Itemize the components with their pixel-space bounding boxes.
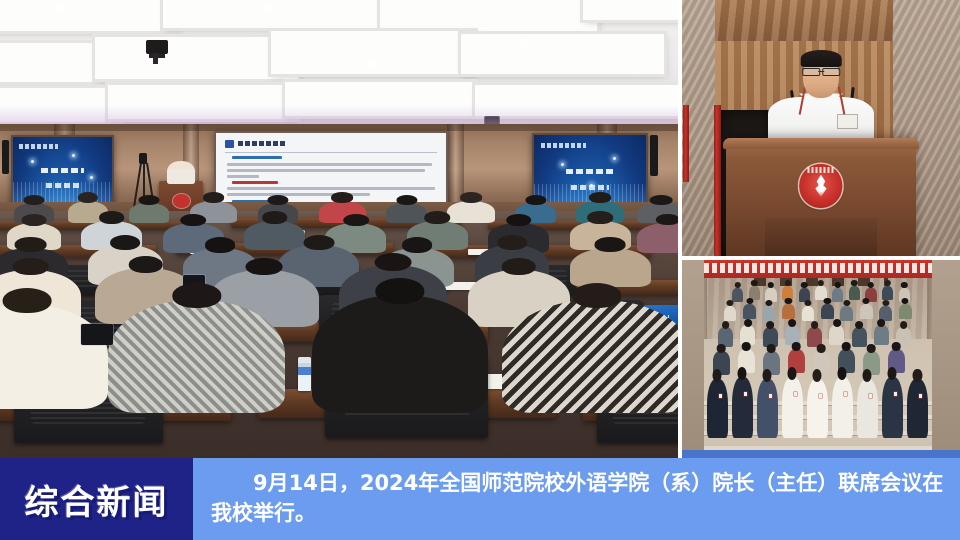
speaker-hair bbox=[801, 50, 842, 67]
audience-area bbox=[0, 211, 678, 458]
podium-base bbox=[765, 218, 876, 256]
university-emblem-icon bbox=[799, 164, 842, 207]
category-tag-label: 综合新闻 bbox=[25, 475, 169, 524]
category-tag: 综合新闻 bbox=[0, 458, 193, 540]
stage-presenter bbox=[167, 161, 195, 184]
conference-hall-audience-photo bbox=[0, 0, 678, 458]
caption-text: 9月14日，2024年全国师范院校外语学院（系）院长（主任）联席会议在我校举行。 bbox=[211, 469, 944, 529]
hall-ceiling bbox=[0, 0, 678, 142]
speaker-badge bbox=[838, 115, 857, 128]
keynote-speaker-photo bbox=[682, 0, 960, 256]
attendee-phone-front bbox=[81, 324, 112, 345]
group-photo bbox=[682, 260, 960, 458]
wall-speaker-left-icon bbox=[2, 140, 9, 174]
conference-banner bbox=[682, 260, 960, 278]
wall-speaker-right-icon bbox=[650, 135, 659, 176]
caption-bar: 综合新闻 9月14日，2024年全国师范院校外语学院（系）院长（主任）联席会议在… bbox=[0, 458, 960, 540]
news-article-image: 综合新闻 9月14日，2024年全国师范院校外语学院（系）院长（主任）联席会议在… bbox=[0, 0, 960, 540]
photo-collage bbox=[0, 0, 960, 458]
caption-text-area: 9月14日，2024年全国师范院校外语学院（系）院长（主任）联席会议在我校举行。 bbox=[193, 458, 960, 540]
ceiling-projector-icon bbox=[146, 40, 168, 54]
slide-logo-icon bbox=[225, 140, 234, 148]
group-photo-bottom-strip bbox=[682, 450, 960, 458]
speaker-glasses-icon bbox=[802, 68, 840, 75]
